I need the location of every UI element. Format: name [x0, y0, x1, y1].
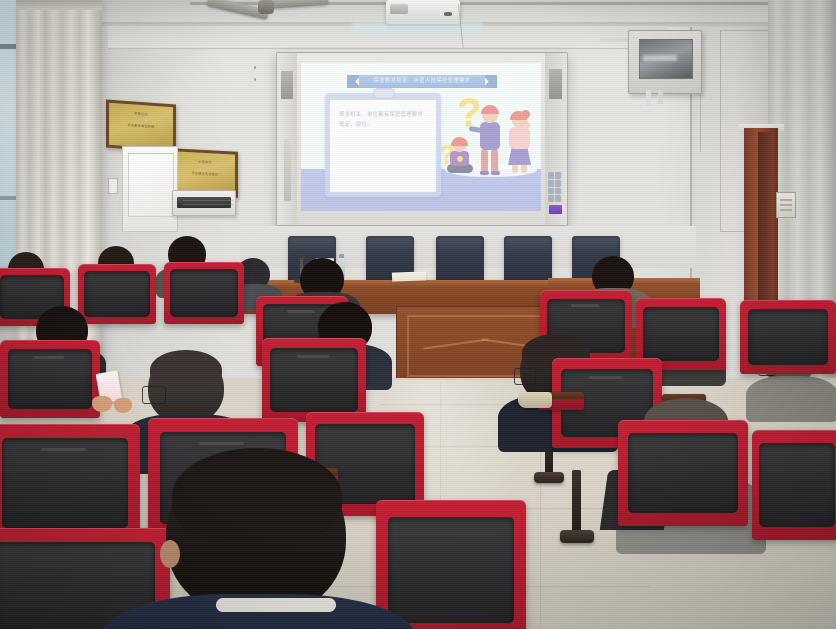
projected-slide: 保密教育培训：涉密人员保密管理要求 ? ? ?: [301, 63, 541, 211]
seat-rim: [618, 420, 748, 526]
seat-rim: [752, 430, 836, 540]
plaque-line-2: 平安建设先进单位: [175, 170, 235, 178]
cabinet-pipe: [646, 90, 651, 106]
keypad-key[interactable]: [555, 172, 561, 179]
auditorium-seat[interactable]: [376, 500, 526, 629]
auditorium-photo: 荣誉证书 先进集体单位奖牌 示范单位 平安建设先进单位: [0, 0, 836, 629]
switch-rocker: [780, 204, 792, 206]
keypad-key[interactable]: [555, 188, 561, 195]
control-keypad[interactable]: [547, 171, 562, 203]
keypad-key[interactable]: [548, 188, 554, 195]
interactive-whiteboard[interactable]: 保密教育培训：涉密人员保密管理要求 ? ? ?: [276, 52, 568, 226]
keypad-key[interactable]: [555, 195, 561, 202]
shirt-collar: [216, 598, 336, 612]
documents-on-table: [392, 271, 426, 281]
wall-fixture-dot: [254, 78, 256, 81]
keypad-key[interactable]: [548, 180, 554, 187]
auditorium-seat[interactable]: [752, 430, 836, 540]
seat-rim: [0, 340, 100, 418]
keypad-key[interactable]: [548, 172, 554, 179]
curtain-rail: [16, 0, 102, 10]
cabinet-glare: [643, 55, 677, 61]
wall-switch-panel[interactable]: [776, 192, 796, 218]
projector-icon: [386, 0, 460, 24]
light-switch[interactable]: [108, 178, 118, 194]
chair-backrest: [368, 238, 412, 254]
power-led-icon: [549, 205, 562, 214]
attendee-hair: [150, 350, 222, 390]
switch-rocker: [780, 209, 792, 211]
ac-vent: [177, 197, 231, 208]
keypad-key[interactable]: [548, 195, 554, 202]
shoe: [518, 392, 552, 408]
fan-hub: [258, 0, 274, 14]
seat-foot: [534, 472, 564, 483]
wall-fixture-dot: [254, 66, 256, 69]
ear: [160, 540, 180, 568]
cabinet-pipe: [658, 90, 663, 104]
glasses-icon: [142, 386, 166, 404]
auditorium-seat[interactable]: [78, 264, 156, 324]
seat-foot: [560, 530, 594, 543]
ceiling-fan-icon: [206, 0, 326, 30]
air-conditioner-icon: [172, 190, 236, 216]
vent-louver: [183, 200, 233, 201]
seat-rim: [0, 424, 140, 542]
projector-lens: [390, 4, 408, 14]
plaque-line-1: 荣誉证书: [109, 110, 173, 119]
seat-rim: [164, 262, 244, 324]
wall-plaque: 荣誉证书 先进集体单位奖牌: [106, 100, 176, 153]
seat-pedestal: [572, 470, 581, 536]
stage-chair: [504, 236, 552, 282]
cabinet-panel: [128, 153, 174, 217]
plaque-line-1: 示范单位: [175, 158, 235, 166]
chair-backrest: [574, 238, 618, 254]
auditorium-seat[interactable]: [740, 300, 836, 374]
auditorium-seat[interactable]: [164, 262, 244, 324]
auditorium-seat[interactable]: [0, 340, 100, 418]
speaker-grille-icon: [281, 71, 293, 99]
chair-backrest: [506, 238, 550, 254]
hand: [92, 396, 112, 412]
hand: [114, 398, 132, 413]
auditorium-seat[interactable]: [0, 424, 140, 542]
board-side-strip: [284, 139, 291, 201]
seat-rim: [376, 500, 526, 629]
switch-rocker: [780, 199, 792, 201]
seat-rim: [78, 264, 156, 324]
auditorium-seat[interactable]: [618, 420, 748, 526]
attendee-hair: [172, 448, 342, 544]
attendee-shoulders: [746, 376, 836, 422]
projector-indicator: [444, 12, 452, 16]
glasses-icon: [514, 368, 536, 385]
seat-rim: [262, 338, 366, 422]
auditorium-seat[interactable]: [262, 338, 366, 422]
stage-chair: [436, 236, 484, 282]
chair-backrest: [290, 238, 334, 254]
wall-equipment-cabinet: [628, 30, 702, 94]
plaque-line-2: 先进集体单位奖牌: [109, 122, 173, 131]
projection-washout: [301, 63, 541, 211]
keypad-key[interactable]: [555, 180, 561, 187]
wall-cabinet: [122, 146, 178, 232]
vent-louver: [183, 204, 233, 205]
seat-rim: [740, 300, 836, 374]
projector-beam: [352, 22, 482, 38]
speaker-grille-icon: [549, 69, 562, 99]
chair-backrest: [438, 238, 482, 254]
